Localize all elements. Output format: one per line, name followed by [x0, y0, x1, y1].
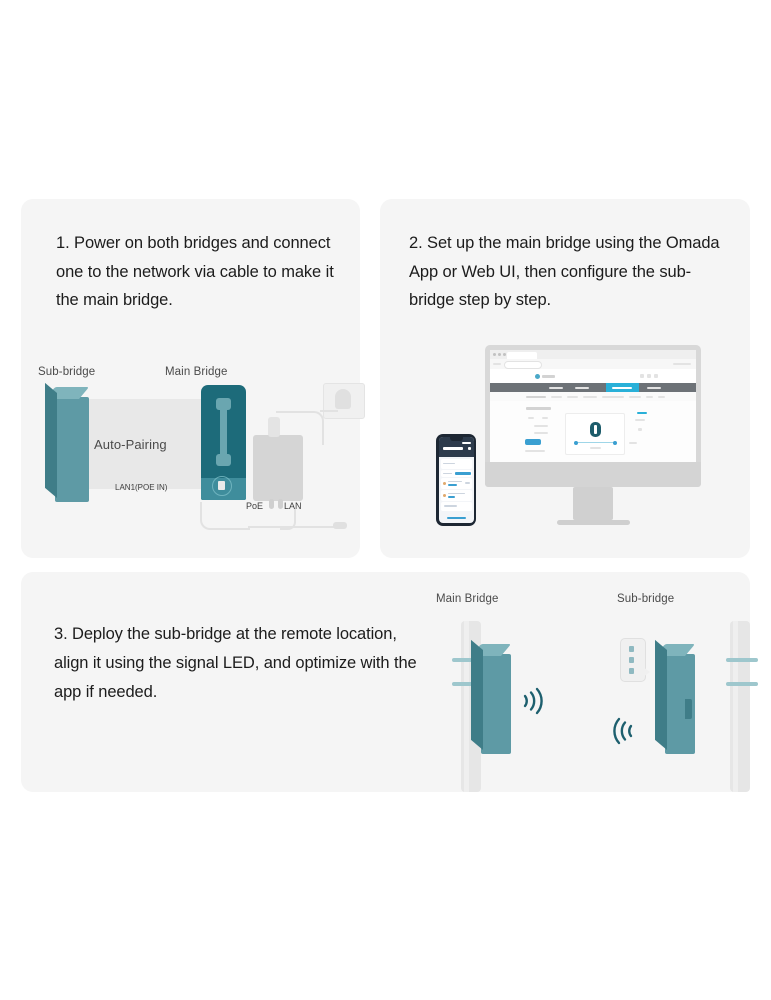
phone-tab-inactive[interactable]: [443, 473, 452, 475]
signal-led-segment-3: [629, 668, 634, 674]
device-port-nub: [474, 699, 481, 719]
header-icon-2[interactable]: [647, 374, 651, 378]
label-main-bridge: Main Bridge: [165, 366, 227, 378]
browser-dot-2: [498, 353, 501, 356]
webui-field-value-1: [534, 425, 548, 427]
signal-led-callout-tail: [643, 667, 650, 677]
phone-item-status-icon-1: [443, 482, 446, 485]
phone-app-title: [443, 447, 463, 450]
cable-poe-to-outlet: [276, 411, 324, 445]
webui-subnav-item-5[interactable]: [602, 396, 624, 398]
step-3-text: 3. Deploy the sub-bridge at the remote l…: [54, 620, 424, 707]
webui-link-caption: [590, 447, 601, 449]
poe-port-connector: [269, 499, 274, 509]
lan-cable-bend: [280, 509, 296, 530]
label-sub-bridge-step3: Sub-bridge: [617, 593, 674, 605]
device-front-face: [55, 397, 89, 502]
phone-item-sub-2: [448, 496, 455, 498]
wifi-signal-sub-bridge: [613, 717, 635, 745]
webui-nav-item-2[interactable]: [575, 387, 589, 389]
webui-nav-item-3[interactable]: [612, 387, 632, 389]
phone-list-item-1[interactable]: [441, 478, 472, 489]
pole-sheen-right: [733, 621, 738, 792]
webui-side-link[interactable]: [637, 412, 647, 414]
phone-item-title-1: [448, 481, 462, 483]
webui-subnav-item-4[interactable]: [583, 396, 597, 398]
antenna-bottom: [216, 454, 231, 466]
webui-subnav-item-1[interactable]: [526, 396, 546, 398]
device-side-face: [655, 640, 667, 750]
browser-tab-active: [507, 352, 537, 360]
header-icon-3[interactable]: [654, 374, 658, 378]
webui-subnav-item-2[interactable]: [551, 396, 562, 398]
label-lan1-poe-in: LAN1(POE IN): [115, 483, 167, 492]
phone-list-item-3[interactable]: [441, 502, 472, 511]
webui-side-value: [638, 428, 642, 431]
instruction-page: 1. Power on both bridges and connect one…: [0, 0, 771, 1000]
device-port-nub: [685, 699, 692, 719]
step-2-text: 2. Set up the main bridge using the Omad…: [409, 229, 729, 315]
phone-item-meta-1: [465, 482, 470, 484]
header-icon-1[interactable]: [640, 374, 644, 378]
lan-cable-connector: [333, 522, 347, 529]
phone-item-title-3: [444, 505, 457, 507]
webui-field-label-1: [528, 417, 534, 419]
device-side-face: [45, 383, 57, 498]
label-main-bridge-step3: Main Bridge: [436, 593, 498, 605]
step-card-1: 1. Power on both bridges and connect one…: [21, 199, 360, 558]
label-sub-bridge: Sub-bridge: [38, 366, 95, 378]
pole-bracket-right-top: [726, 658, 758, 662]
webui-device-icon-detail: [594, 425, 597, 434]
browser-window-controls[interactable]: [673, 363, 691, 365]
mounting-pole-right: [730, 621, 750, 792]
device-front-face: [481, 654, 511, 754]
webui-link-node-right: [613, 441, 617, 445]
webui-subnav-item-6[interactable]: [629, 396, 641, 398]
phone-search-card[interactable]: [441, 459, 472, 469]
smartphone: [436, 434, 476, 526]
desktop-monitor: [485, 345, 713, 530]
outlet-plug: [335, 389, 351, 409]
label-poe-port: PoE: [246, 501, 263, 511]
webui-subnav-item-3[interactable]: [567, 396, 578, 398]
signal-led-segment-2: [629, 657, 634, 663]
webui-field-value-2: [534, 432, 548, 434]
webui-field-label-2: [542, 417, 548, 419]
browser-nav-arrows[interactable]: [493, 363, 501, 365]
webui-main-nav: [490, 383, 696, 392]
phone-bottom-action[interactable]: [447, 517, 466, 519]
outlet-cable-stub: [320, 410, 338, 412]
webui-side-label-2: [629, 442, 637, 444]
webui-link-node-left: [574, 441, 578, 445]
phone-notch: [450, 437, 463, 441]
antenna-stem: [220, 408, 227, 456]
phone-list-item-2[interactable]: [441, 490, 472, 501]
monitor-screen: [490, 350, 696, 462]
webui-nav-item-4[interactable]: [647, 387, 661, 389]
main-bridge-device-step3: [471, 644, 501, 744]
tplink-wordmark: [542, 375, 555, 378]
webui-side-label-1: [635, 419, 645, 421]
phone-tabs-row[interactable]: [441, 470, 472, 477]
step-1-text: 1. Power on both bridges and connect one…: [56, 229, 336, 315]
step-card-3: 3. Deploy the sub-bridge at the remote l…: [21, 572, 750, 792]
phone-screen: [439, 437, 474, 523]
monitor-chin: [485, 462, 701, 487]
phone-header-icon[interactable]: [468, 447, 471, 450]
webui-nav-item-1[interactable]: [549, 387, 563, 389]
webui-footnote: [525, 450, 545, 452]
webui-header: [490, 369, 696, 383]
webui-device-panel: [565, 413, 625, 455]
webui-primary-button[interactable]: [525, 439, 541, 445]
browser-dot-3: [503, 353, 506, 356]
browser-dot-1: [493, 353, 496, 356]
webui-page-title: [526, 407, 551, 410]
phone-item-title-2: [448, 493, 465, 495]
cable-bridge-to-poe: [200, 502, 250, 530]
wifi-signal-main-bridge: [521, 687, 543, 715]
rj45-plug: [218, 481, 225, 490]
webui-subnav-item-7[interactable]: [646, 396, 653, 398]
sub-bridge-device-step3: [655, 644, 685, 744]
monitor-foot: [557, 520, 630, 525]
webui-subnav-item-8[interactable]: [658, 396, 665, 398]
device-port-nub: [48, 457, 55, 477]
browser-url-bar[interactable]: [504, 361, 542, 369]
webui-link-line: [576, 442, 616, 443]
device-side-face: [471, 640, 483, 750]
step-card-2: 2. Set up the main bridge using the Omad…: [380, 199, 750, 558]
pole-bracket-right-bottom: [726, 682, 758, 686]
phone-item-status-icon-2: [443, 494, 446, 497]
label-auto-pairing: Auto-Pairing: [94, 437, 167, 452]
phone-item-sub-1: [448, 484, 457, 486]
pole-sheen-left: [464, 621, 469, 792]
tplink-logo-icon: [535, 374, 540, 379]
signal-led-segment-1: [629, 646, 634, 652]
phone-status-bar: [462, 442, 471, 444]
main-bridge-device: [201, 385, 246, 500]
phone-search-placeholder: [443, 463, 455, 465]
lan-port-connector: [278, 499, 283, 509]
sub-bridge-device: [45, 387, 79, 492]
phone-tab-active[interactable]: [455, 472, 471, 475]
monitor-neck: [573, 487, 613, 520]
